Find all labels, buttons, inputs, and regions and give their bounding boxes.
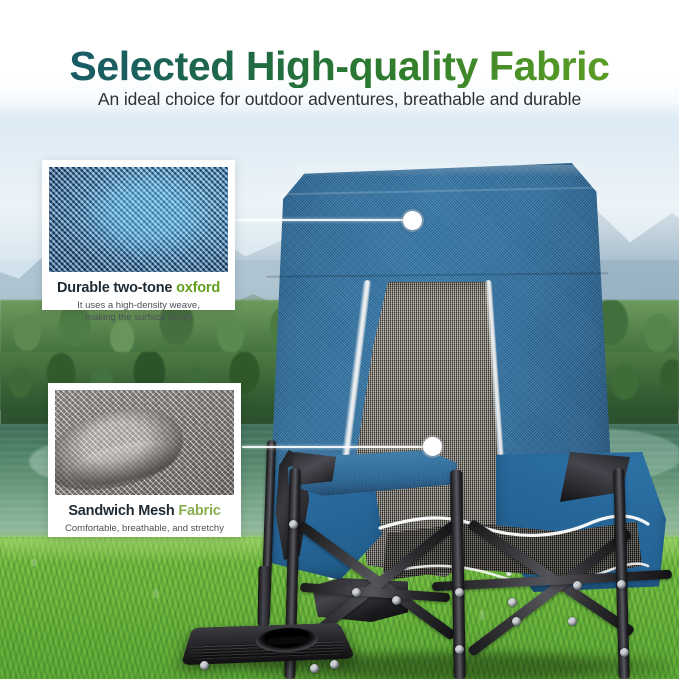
callout-title-oxford-accent: oxford (176, 280, 220, 296)
callout-title-mesh: Sandwich Mesh Fabric (55, 503, 234, 520)
callout-subtitle-oxford-line2: making the surface tough (53, 312, 224, 325)
callout-title-mesh-main: Sandwich Mesh (68, 503, 178, 519)
header-band: Selected High-quality Fabric An ideal ch… (0, 0, 679, 118)
callout-subtitle-mesh-line1: Comfortable, breathable, and stretchy (59, 523, 230, 536)
side-table-support-post (257, 566, 270, 626)
page-subtitle: An ideal choice for outdoor adventures, … (0, 89, 679, 110)
backrest-top-hem (270, 165, 608, 177)
callout-card-mesh: Sandwich Mesh Fabric Comfortable, breath… (48, 383, 241, 537)
table-rivet (200, 661, 209, 670)
frame-rivet (568, 617, 577, 626)
frame-rivet (508, 598, 517, 607)
callout-subtitle-mesh: Comfortable, breathable, and stretchy (55, 523, 234, 543)
callout-marker-dot-oxford (403, 211, 422, 230)
frame-rivet (455, 645, 464, 654)
frame-rivet (455, 588, 464, 597)
callout-subtitle-oxford: It uses a high-density weave, making the… (49, 300, 228, 332)
frame-rivet (392, 596, 401, 605)
table-rivet (330, 660, 339, 669)
frame-rivet (573, 581, 582, 590)
frame-rivet (617, 580, 626, 589)
frame-rivet (352, 588, 361, 597)
page-title: Selected High-quality Fabric (0, 44, 679, 88)
frame-rivet (620, 648, 629, 657)
frame-rivet (512, 617, 521, 626)
callout-title-oxford: Durable two-tone oxford (49, 280, 228, 297)
infographic-canvas: Durable two-tone oxford It uses a high-d… (0, 0, 679, 679)
oxford-fabric-swatch-image (49, 167, 228, 272)
callout-title-oxford-main: Durable two-tone (57, 280, 176, 296)
callout-connector-line-oxford (236, 219, 412, 221)
mesh-fabric-swatch-image (55, 390, 234, 495)
mesh-roll-edge (67, 433, 183, 493)
table-rivet (310, 664, 319, 673)
frame-rivet (289, 520, 298, 529)
callout-marker-dot-mesh (423, 437, 442, 456)
callout-title-mesh-accent: Fabric (178, 503, 220, 519)
callout-connector-line-mesh (242, 446, 432, 448)
callout-subtitle-oxford-line1: It uses a high-density weave, (53, 300, 224, 313)
callout-card-oxford: Durable two-tone oxford It uses a high-d… (42, 160, 235, 310)
